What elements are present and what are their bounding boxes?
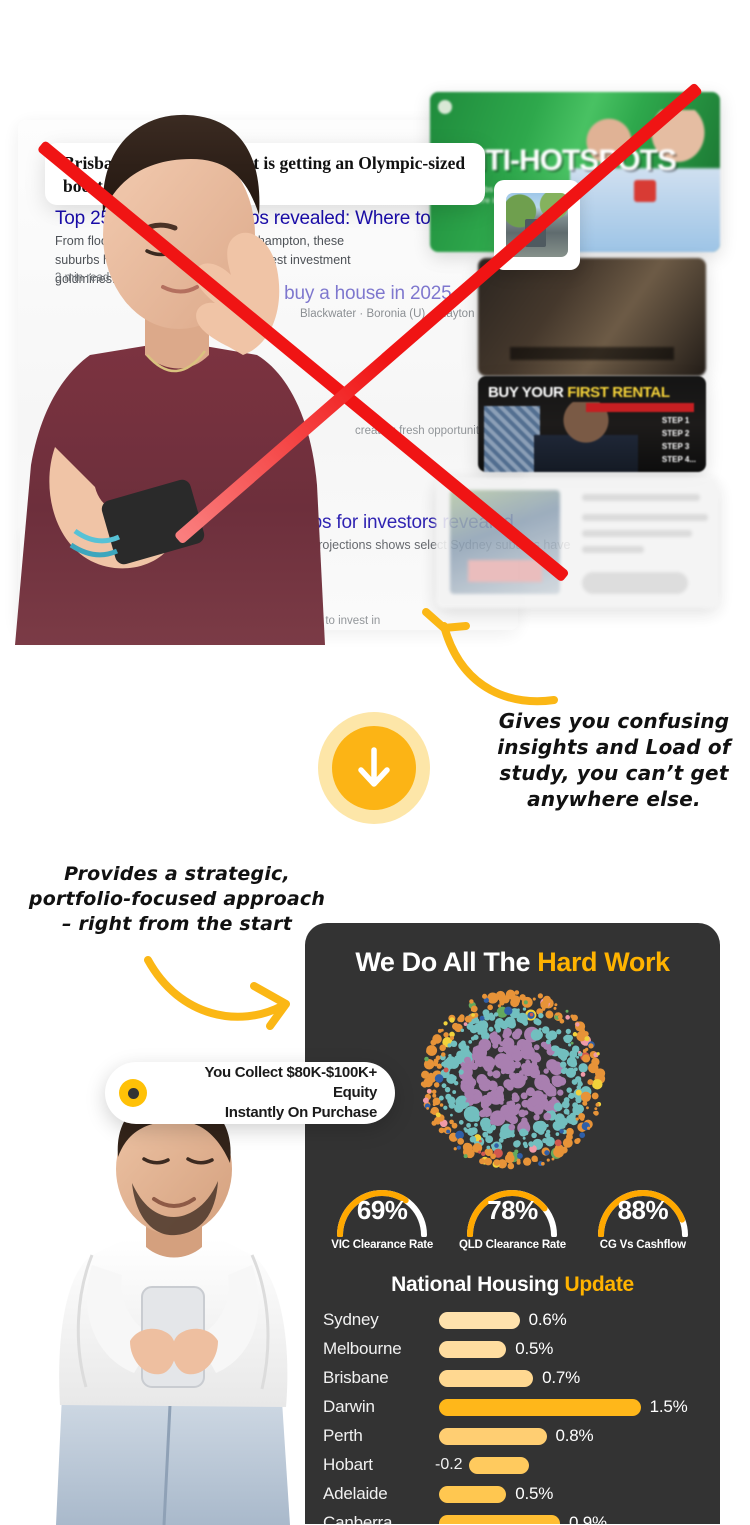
bubble-node	[456, 1051, 464, 1059]
gauge-qld-label: QLD Clearance Rate	[454, 1239, 570, 1251]
bubble-node	[496, 1161, 499, 1164]
bubble-node	[454, 1081, 458, 1085]
bubble-node	[500, 1069, 505, 1074]
bubble-node	[481, 1039, 488, 1046]
housing-negative-value: -0.2	[435, 1456, 463, 1474]
bubble-node	[501, 1059, 510, 1068]
bubble-node	[497, 1004, 500, 1007]
bubble-node	[564, 1105, 567, 1108]
bubble-node	[537, 1128, 544, 1135]
bubble-node	[424, 1057, 429, 1062]
bubble-node	[575, 1117, 578, 1120]
housing-city-label: Darwin	[319, 1397, 439, 1417]
bubble-node	[551, 1158, 554, 1161]
bubble-node	[572, 1080, 577, 1085]
bubble-node	[435, 1112, 440, 1117]
housing-row: Canberra0.9%	[319, 1510, 711, 1524]
bubble-node	[572, 1052, 575, 1055]
subscribe-badge	[634, 180, 656, 202]
bubble-node	[575, 1138, 580, 1143]
gauge-vic-label: VIC Clearance Rate	[324, 1239, 440, 1251]
bubble-node	[496, 1116, 500, 1120]
bubble-node	[591, 1058, 599, 1066]
bubble-node	[523, 1110, 528, 1115]
housing-city-label: Brisbane	[319, 1368, 439, 1388]
bubble-node	[547, 1060, 557, 1070]
bubble-node	[481, 1125, 485, 1129]
bubble-node	[528, 1141, 534, 1147]
bubble-node	[508, 1019, 514, 1025]
panel-title-plain: We Do All The	[355, 947, 537, 977]
bubble-node	[439, 1103, 443, 1107]
bubble-node	[576, 1085, 581, 1090]
bubble-node	[434, 1074, 443, 1083]
bubble-node	[516, 1159, 520, 1163]
housing-row: Hobart-0.2	[319, 1452, 711, 1478]
bubble-node	[449, 1036, 453, 1040]
bubble-node	[506, 1151, 512, 1157]
clearance-gauges: 69% VIC Clearance Rate 78% QLD Clearance…	[305, 1181, 720, 1251]
bubble-node	[587, 1079, 593, 1085]
housing-city-label: Canberra	[319, 1513, 439, 1524]
solution-section: We Do All The Hard Work 69% VIC Clearanc…	[0, 840, 750, 1524]
bubble-node	[557, 1015, 560, 1018]
bubble-node	[441, 1052, 446, 1057]
bubble-node	[466, 1123, 471, 1128]
bubble-node	[585, 1048, 588, 1051]
bubble-node	[446, 1062, 449, 1065]
bubble-node	[543, 1068, 548, 1073]
bubble-node	[514, 1079, 521, 1086]
bubble-node	[470, 1127, 477, 1134]
bubble-node	[558, 1090, 562, 1094]
bubble-node	[491, 1031, 497, 1037]
bubble-node	[490, 1153, 496, 1159]
bubble-node	[435, 1055, 440, 1060]
bubble-node	[466, 1078, 475, 1087]
first-rental-title-plain: BUY YOUR	[488, 384, 567, 401]
bubble-node	[487, 1005, 493, 1011]
bubble-node	[448, 1102, 455, 1109]
housing-value-label: 0.7%	[542, 1368, 580, 1388]
housing-row: Melbourne0.5%	[319, 1336, 711, 1362]
bubble-node	[523, 1144, 527, 1148]
bubble-node	[487, 1081, 497, 1091]
bubble-node	[517, 1153, 523, 1159]
bubble-node	[573, 1067, 577, 1071]
housing-bar	[439, 1515, 560, 1525]
bubble-node	[516, 1008, 519, 1011]
bubble-node	[468, 1040, 472, 1044]
bubble-node	[592, 1079, 603, 1090]
bubble-node	[487, 1095, 493, 1101]
bubble-node	[560, 1061, 566, 1067]
housing-bar	[439, 1370, 533, 1387]
bubble-node	[566, 1035, 572, 1041]
bubble-node	[443, 1021, 447, 1025]
bubble-node	[474, 1123, 478, 1127]
gauge-cg-arc: 88%	[585, 1181, 701, 1237]
guide-banner	[586, 403, 694, 412]
bubble-node	[508, 1124, 515, 1131]
bubble-node	[470, 1063, 477, 1070]
bubble-node	[545, 1124, 548, 1127]
stressed-man-photo	[0, 55, 405, 645]
bubble-node	[533, 1044, 539, 1050]
bubble-node	[521, 1100, 529, 1108]
bubble-node	[572, 1032, 577, 1037]
bubble-node	[565, 1010, 568, 1013]
happy-man-photo	[30, 1105, 320, 1525]
bubble-node	[566, 1087, 572, 1093]
bubble-node	[420, 1082, 425, 1087]
bubble-node	[440, 1029, 443, 1032]
bubble-node	[554, 1003, 557, 1006]
gauge-cg-value: 88%	[585, 1195, 701, 1226]
housing-bar	[439, 1312, 520, 1329]
bubble-node	[466, 1023, 473, 1030]
bubble-node	[577, 1105, 581, 1109]
bubble-node	[535, 1078, 540, 1083]
bubble-node	[432, 1094, 436, 1098]
channel-logo-icon	[438, 100, 452, 114]
bubble-node	[439, 1045, 446, 1052]
housing-value-label: 1.5%	[650, 1397, 688, 1417]
bubble-node	[541, 1162, 545, 1166]
bubble-node	[443, 1068, 448, 1073]
bubble-node	[463, 1154, 467, 1158]
step-2: STEP 2	[662, 427, 696, 440]
housing-bar	[439, 1399, 641, 1416]
bubble-node	[466, 1144, 471, 1149]
bubble-node	[425, 1072, 428, 1075]
skeleton-line-1	[582, 494, 700, 501]
bubble-node	[523, 1130, 528, 1135]
bubble-node	[538, 1028, 541, 1031]
bubble-node	[521, 1117, 527, 1123]
bubble-node	[580, 1029, 584, 1033]
bubble-node	[490, 1144, 493, 1147]
bubble-node	[484, 1158, 492, 1166]
bubble-node	[557, 1049, 562, 1054]
bubble-node	[562, 1067, 568, 1073]
bubble-node	[593, 1111, 596, 1114]
bubble-node	[498, 1047, 503, 1052]
bubble-node	[555, 1012, 558, 1015]
note-confusing-insights: Gives you confusing insights and Load of…	[488, 708, 740, 812]
bubble-node	[546, 1130, 550, 1134]
bubble-node	[490, 1120, 495, 1125]
bubble-node	[579, 1132, 585, 1138]
bubble-node	[430, 1040, 436, 1046]
scroll-down-inner	[332, 726, 416, 810]
bubble-node	[451, 1075, 457, 1081]
bubble-node	[452, 1090, 456, 1094]
bubble-node	[430, 1110, 433, 1113]
bubble-node	[494, 1143, 499, 1148]
bubble-node	[499, 998, 503, 1002]
bubble-node	[473, 1093, 481, 1101]
step-4: STEP 4...	[662, 453, 696, 466]
bubble-node	[464, 1114, 470, 1120]
bubble-node	[563, 1036, 567, 1040]
bubble-node	[446, 1130, 450, 1134]
bubble-node	[487, 1062, 492, 1067]
bubble-node	[522, 1137, 525, 1140]
bubble-node	[519, 1070, 524, 1075]
housing-value-label: 0.9%	[569, 1513, 607, 1524]
bubble-node	[433, 1082, 438, 1087]
bubble-node	[499, 1101, 503, 1105]
bubble-node	[480, 1101, 488, 1109]
equity-line-1: You Collect $80K-$100K+ Equity	[205, 1064, 377, 1101]
bubble-node	[575, 1022, 579, 1026]
bubble-node	[492, 1043, 498, 1049]
housing-city-label: Hobart	[319, 1455, 439, 1475]
bubble-node	[560, 1054, 567, 1061]
bubble-node	[422, 1097, 428, 1103]
bubble-node	[554, 1139, 561, 1146]
bubble-node	[494, 1073, 500, 1079]
bubble-node	[458, 1120, 463, 1125]
bubble-node	[523, 1000, 527, 1004]
bubble-node	[499, 1130, 508, 1139]
bubble-node	[482, 1009, 489, 1016]
suburb-bubble-chart	[413, 985, 613, 1175]
bubble-node	[570, 1042, 573, 1045]
bubble-node	[506, 1101, 510, 1105]
bubble-node	[566, 1112, 569, 1115]
bubble-node	[587, 1127, 590, 1130]
bubble-node	[473, 1018, 479, 1024]
bubble-node	[445, 1094, 451, 1100]
housing-city-label: Sydney	[319, 1310, 439, 1330]
bubble-node	[426, 1107, 429, 1110]
bubble-node	[534, 1159, 537, 1162]
bubble-node	[543, 1113, 551, 1121]
bubble-node	[498, 1138, 503, 1143]
bubble-node	[529, 1013, 532, 1016]
bubble-node	[508, 1072, 515, 1079]
housing-city-label: Perth	[319, 1426, 439, 1446]
bubble-node	[488, 1013, 493, 1018]
bubble-node	[457, 1017, 462, 1022]
bubble-node	[479, 1016, 484, 1021]
housing-value-label: 0.6%	[529, 1310, 567, 1330]
bubble-node	[444, 1087, 449, 1092]
bubble-node	[441, 1062, 444, 1065]
housing-city-label: Melbourne	[319, 1339, 439, 1359]
bubble-node	[499, 1041, 504, 1046]
bubble-node	[523, 1158, 531, 1166]
bubble-node	[449, 1120, 454, 1125]
first-rental-title-accent: FIRST RENTAL	[567, 384, 669, 401]
gauge-vic-arc: 69%	[324, 1181, 440, 1237]
bubble-node	[465, 1045, 469, 1049]
bubble-node	[463, 1057, 470, 1064]
hard-work-panel: We Do All The Hard Work 69% VIC Clearanc…	[305, 923, 720, 1524]
bubble-node	[510, 998, 519, 1007]
housing-chart-rows: Sydney0.6%Melbourne0.5%Brisbane0.7%Darwi…	[319, 1307, 711, 1524]
bubble-node	[431, 1120, 436, 1125]
bubble-node	[565, 1029, 570, 1034]
first-rental-video-card[interactable]: BUY YOUR FIRST RENTAL STEP 1 STEP 2 STEP…	[478, 376, 706, 472]
bubble-node	[469, 1136, 476, 1143]
bubble-node	[559, 1019, 564, 1024]
bubble-node	[551, 1076, 558, 1083]
gauge-cg-label: CG Vs Cashflow	[585, 1239, 701, 1251]
bubble-node	[559, 1129, 564, 1134]
bubble-node	[434, 1061, 437, 1064]
bubble-node	[470, 1036, 474, 1040]
bubble-node	[546, 1159, 549, 1162]
bubble-node	[464, 1071, 471, 1078]
bubble-node	[540, 1077, 544, 1081]
first-rental-title: BUY YOUR FIRST RENTAL	[488, 384, 670, 401]
panel-title: We Do All The Hard Work	[305, 947, 720, 978]
gauge-qld: 78% QLD Clearance Rate	[454, 1181, 570, 1251]
housing-row: Adelaide0.5%	[319, 1481, 711, 1507]
bubble-node	[461, 1041, 465, 1045]
bubble-node	[516, 1016, 522, 1022]
bubble-node	[465, 1102, 469, 1106]
handshake-video-card[interactable]	[478, 258, 706, 376]
bubble-node	[550, 1090, 556, 1096]
bubble-node	[446, 1077, 451, 1082]
gauge-vic: 69% VIC Clearance Rate	[324, 1181, 440, 1251]
bubble-node	[559, 1123, 565, 1129]
bubble-node	[438, 1096, 443, 1101]
bubble-node	[472, 1046, 478, 1052]
learn-more-button[interactable]	[582, 572, 688, 594]
bubble-node	[449, 1017, 454, 1022]
bubble-node	[465, 1018, 468, 1021]
bubble-node	[457, 1138, 464, 1145]
bubble-node	[560, 1147, 567, 1154]
bubble-node	[556, 1029, 561, 1034]
bubble-node	[542, 1094, 547, 1099]
housing-chart-title: National Housing Update	[305, 1273, 720, 1297]
bubble-node	[502, 1032, 509, 1039]
gauge-qld-value: 78%	[454, 1195, 570, 1226]
bubble-node	[551, 1046, 557, 1052]
bubble-node	[513, 1061, 520, 1068]
bubble-node	[534, 1114, 539, 1119]
bubble-node	[576, 1056, 579, 1059]
bubble-node	[477, 1075, 487, 1085]
housing-row: Darwin1.5%	[319, 1394, 711, 1420]
bubble-node	[478, 1140, 481, 1143]
bubble-node	[511, 1045, 520, 1054]
bubble-node	[458, 1069, 463, 1074]
bubble-node	[487, 1071, 493, 1077]
bubble-node	[570, 1014, 574, 1018]
bubble-node	[583, 1102, 587, 1106]
bubble-node	[426, 1089, 430, 1093]
bubble-node	[548, 1036, 553, 1041]
bubble-node	[510, 1133, 515, 1138]
bubble-node	[553, 1007, 556, 1010]
bubble-node	[580, 1092, 590, 1102]
bubble-node	[490, 1125, 496, 1131]
skeleton-line-4	[582, 546, 644, 553]
panel-title-accent: Hard Work	[537, 947, 669, 977]
bubble-node	[528, 1054, 534, 1060]
bubble-node	[538, 1013, 543, 1018]
bubble-node	[588, 1043, 593, 1048]
housing-row: Brisbane0.7%	[319, 1365, 711, 1391]
step-3: STEP 3	[662, 440, 696, 453]
bubble-node	[557, 1077, 566, 1086]
bubble-node	[572, 1112, 576, 1116]
bubble-node	[572, 1102, 578, 1108]
bubble-node	[511, 1092, 517, 1098]
bubble-node	[539, 1142, 542, 1145]
gauge-qld-arc: 78%	[454, 1181, 570, 1237]
bubble-node	[555, 1132, 559, 1136]
bubble-node	[594, 1107, 597, 1110]
scroll-down-button[interactable]	[318, 712, 430, 824]
bubble-node	[455, 1131, 464, 1140]
bubble-node	[522, 1007, 525, 1010]
housing-bar	[439, 1341, 506, 1358]
housing-row: Sydney0.6%	[319, 1307, 711, 1333]
bubble-node	[469, 999, 473, 1003]
housing-value-label: 0.5%	[515, 1339, 553, 1359]
bubble-node	[463, 1022, 467, 1026]
down-arrow-icon	[355, 746, 393, 790]
bubble-node	[578, 1063, 587, 1072]
bubble-node	[545, 1011, 553, 1019]
bubble-node	[575, 1090, 581, 1096]
bubble-node	[496, 1086, 504, 1094]
bubble-node	[582, 1054, 590, 1062]
bubble-node	[471, 1051, 481, 1061]
bubble-node	[541, 1007, 545, 1011]
bubble-node	[443, 1032, 448, 1037]
bubble-node	[595, 1068, 605, 1078]
housing-row: Perth0.8%	[319, 1423, 711, 1449]
bubble-node	[441, 1128, 445, 1132]
bubble-node	[514, 1150, 518, 1154]
bubble-node	[504, 1007, 512, 1015]
bubble-node	[431, 1089, 436, 1094]
bubble-node	[578, 1051, 581, 1054]
housing-value-label: 0.5%	[515, 1484, 553, 1504]
equity-callout-text: You Collect $80K-$100K+ Equity Instantly…	[159, 1063, 377, 1123]
bubble-node	[544, 1150, 549, 1155]
housing-bar	[469, 1457, 529, 1474]
bubble-node	[456, 1146, 460, 1150]
bubble-node	[563, 1097, 569, 1103]
bubble-node	[586, 1106, 589, 1109]
bubble-node	[568, 1043, 571, 1046]
bubble-node	[443, 1106, 447, 1110]
bubble-node	[540, 1042, 546, 1048]
bubble-node	[539, 1081, 546, 1088]
bubble-node	[519, 994, 525, 1000]
bubble-node	[478, 1151, 481, 1154]
housing-title-plain: National Housing	[391, 1273, 564, 1296]
housing-title-accent: Update	[565, 1273, 634, 1296]
bubble-node	[448, 1054, 451, 1057]
bubble-node	[531, 1061, 537, 1067]
bubble-node	[470, 1008, 473, 1011]
bubble-node	[480, 1110, 487, 1117]
bubble-node	[490, 994, 497, 1001]
bubble-node	[456, 1024, 461, 1029]
bubble-node	[454, 1104, 463, 1113]
